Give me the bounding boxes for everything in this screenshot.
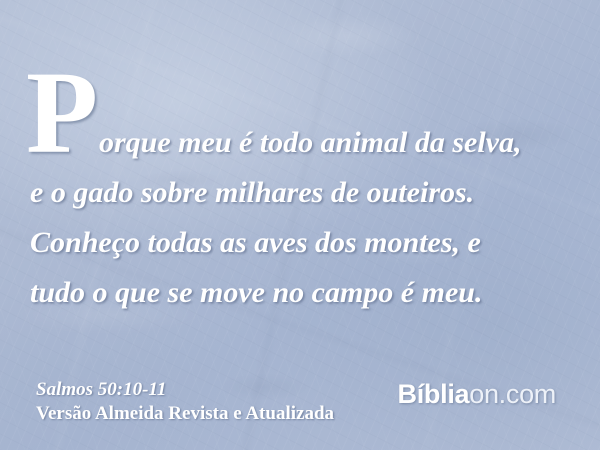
footer: Salmos 50:10-11 Versão Almeida Revista e… bbox=[0, 370, 600, 450]
verse-block: P orque meu é todo animal da selva, e o … bbox=[0, 0, 600, 370]
logo-text-oncom: on.com bbox=[469, 379, 556, 409]
bible-version-label: Versão Almeida Revista e Atualizada bbox=[36, 402, 334, 426]
verse-line: Conheço todas as aves dos montes, e bbox=[0, 218, 600, 268]
verse-line: tudo o que se move no campo é meu. bbox=[0, 268, 600, 318]
logo-text-biblia: Bíblia bbox=[398, 379, 470, 409]
verse-line: e o gado sobre milhares de outeiros. bbox=[0, 168, 600, 218]
reference-block: Salmos 50:10-11 Versão Almeida Revista e… bbox=[36, 378, 334, 426]
verse-text: orque meu é todo animal da selva, e o ga… bbox=[0, 118, 600, 318]
bibliaon-logo[interactable]: Bíbliaon.com bbox=[398, 379, 556, 409]
verse-image-card: P orque meu é todo animal da selva, e o … bbox=[0, 0, 600, 450]
verse-line: orque meu é todo animal da selva, bbox=[0, 118, 600, 168]
verse-reference: Salmos 50:10-11 bbox=[36, 378, 334, 401]
